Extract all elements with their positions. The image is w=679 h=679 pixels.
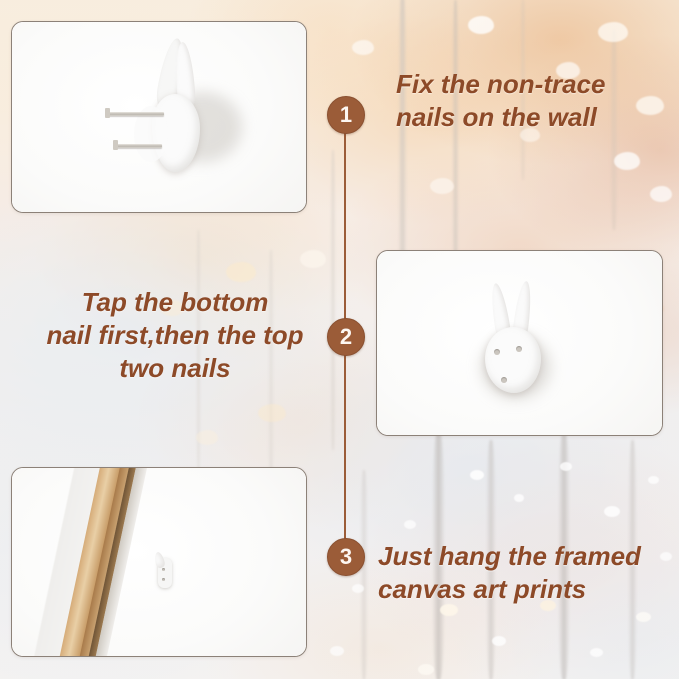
step-2-photo — [377, 251, 662, 435]
step-1-photo-panel — [11, 21, 307, 213]
step-1-caption: Fix the non-trace nails on the wall — [396, 68, 664, 134]
step-marker-1: 1 — [327, 96, 365, 134]
infographic-canvas: 1 2 3 Fix the non-trace nails on the wal… — [0, 0, 679, 679]
nail-hole-bottom — [501, 377, 507, 383]
nail-hole-left — [494, 349, 500, 355]
step-marker-1-number: 1 — [340, 104, 352, 126]
nail-hole-right — [516, 346, 522, 352]
nail-upper-head — [105, 108, 110, 118]
step-marker-2-number: 2 — [340, 326, 352, 348]
step-1-photo — [12, 22, 306, 212]
nail-lower-head — [113, 140, 118, 150]
step-marker-2: 2 — [327, 318, 365, 356]
step-marker-3-number: 3 — [340, 546, 352, 568]
connector-line-2-to-3 — [344, 352, 346, 554]
step-2-photo-panel — [376, 250, 663, 436]
hook-nail-hole-top — [162, 568, 165, 571]
rabbit-head — [485, 327, 541, 393]
nail-lower — [116, 144, 162, 148]
step-3-photo-panel — [11, 467, 307, 657]
nail-upper — [108, 112, 164, 116]
connector-line-1-to-2 — [344, 122, 346, 334]
step-3-caption: Just hang the framed canvas art prints — [378, 540, 670, 606]
step-3-photo — [12, 468, 306, 656]
hook-nail-hole-bottom — [162, 578, 165, 581]
step-marker-3: 3 — [327, 538, 365, 576]
step-2-caption: Tap the bottom nail first,then the top t… — [34, 286, 316, 384]
